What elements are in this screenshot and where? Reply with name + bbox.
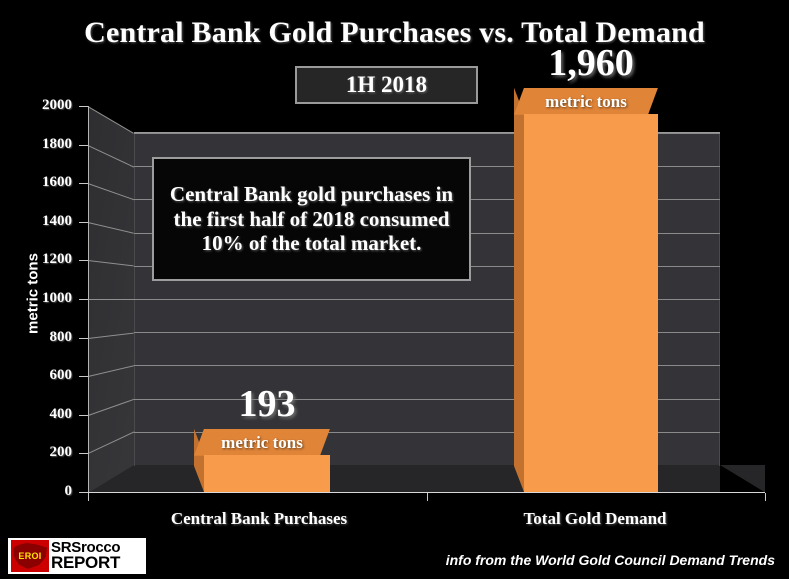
y-axis-tick-label: 2000 xyxy=(10,97,72,114)
y-axis-tick xyxy=(79,299,88,300)
logo-line-2: REPORT xyxy=(51,555,120,571)
srsrocco-logo[interactable]: EROI SRSrocco REPORT xyxy=(8,538,146,574)
eroi-map-icon: EROI xyxy=(11,540,49,572)
logo-wordmark: SRSrocco REPORT xyxy=(51,541,120,571)
y-axis-tick xyxy=(79,492,88,493)
x-axis-category-label: Total Gold Demand xyxy=(455,509,735,529)
bar-front-face[interactable] xyxy=(524,114,658,492)
gridline-depth-connector xyxy=(88,299,134,300)
annotation-text: Central Bank gold purchases in the first… xyxy=(164,182,459,256)
y-axis-tick-label: 400 xyxy=(10,406,72,423)
y-axis-tick-label: 1600 xyxy=(10,174,72,191)
annotation-callout: Central Bank gold purchases in the first… xyxy=(152,157,471,281)
bar-side-face xyxy=(514,88,524,492)
bar-unit-label: metric tons xyxy=(514,92,658,112)
source-note: info from the World Gold Council Demand … xyxy=(446,552,775,568)
y-axis-tick xyxy=(79,376,88,377)
y-axis-tick xyxy=(79,338,88,339)
y-axis-tick xyxy=(79,453,88,454)
x-axis-tick xyxy=(427,493,428,501)
y-axis-tick xyxy=(79,106,88,107)
bar-value-label: 193 xyxy=(164,382,370,426)
y-axis-tick xyxy=(79,222,88,223)
y-axis-tick-label: 600 xyxy=(10,367,72,384)
x-axis-tick xyxy=(88,493,89,501)
y-axis-tick-label: 0 xyxy=(10,483,72,500)
bar-front-face[interactable] xyxy=(204,455,330,492)
y-axis-tick xyxy=(79,260,88,261)
bar-value-label: 1,960 xyxy=(484,41,698,85)
y-axis-tick xyxy=(79,183,88,184)
y-axis-line xyxy=(88,106,89,493)
y-axis-tick-label: 200 xyxy=(10,444,72,461)
chart-root: Central Bank Gold Purchases vs. Total De… xyxy=(0,0,789,579)
eroi-label: EROI xyxy=(18,551,41,561)
x-axis-category-label: Central Bank Purchases xyxy=(119,509,399,529)
plot-area: 0200400600800100012001400160018002000 me… xyxy=(0,0,789,579)
x-axis-tick xyxy=(765,493,766,501)
y-axis-title: metric tons xyxy=(25,234,42,354)
bar-unit-label: metric tons xyxy=(194,433,330,453)
y-axis-tick-label: 1800 xyxy=(10,136,72,153)
plot-floor xyxy=(88,465,765,493)
y-axis-tick xyxy=(79,415,88,416)
y-axis-tick-label: 1400 xyxy=(10,213,72,230)
y-axis-tick xyxy=(79,145,88,146)
